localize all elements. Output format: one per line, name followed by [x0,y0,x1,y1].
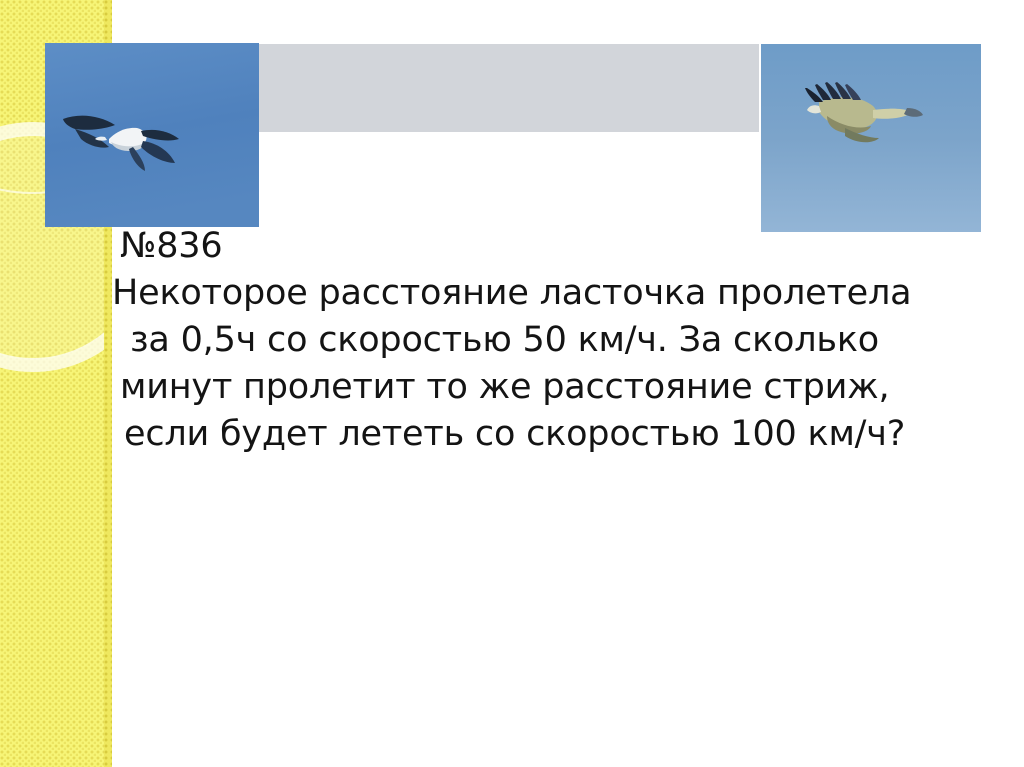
grey-banner [259,44,759,132]
problem-line-1: Некоторое расстояние ласточка пролетела [112,270,972,317]
problem-number: №836 [112,222,972,270]
problem-line-3: минут пролетит то же расстояние стриж, [112,364,972,411]
problem-line-4: если будет лететь со скоростью 100 км/ч? [112,411,972,458]
problem-line-2: за 0,5ч со скоростью 50 км/ч. За сколько [112,317,972,364]
swift-illustration [761,44,981,232]
swift-photo [761,44,981,232]
seagull-illustration [45,43,259,227]
problem-text-block: №836 Некоторое расстояние ласточка проле… [112,222,972,458]
seagull-photo [45,43,259,227]
presentation-slide: №836 Некоторое расстояние ласточка проле… [0,0,1024,767]
